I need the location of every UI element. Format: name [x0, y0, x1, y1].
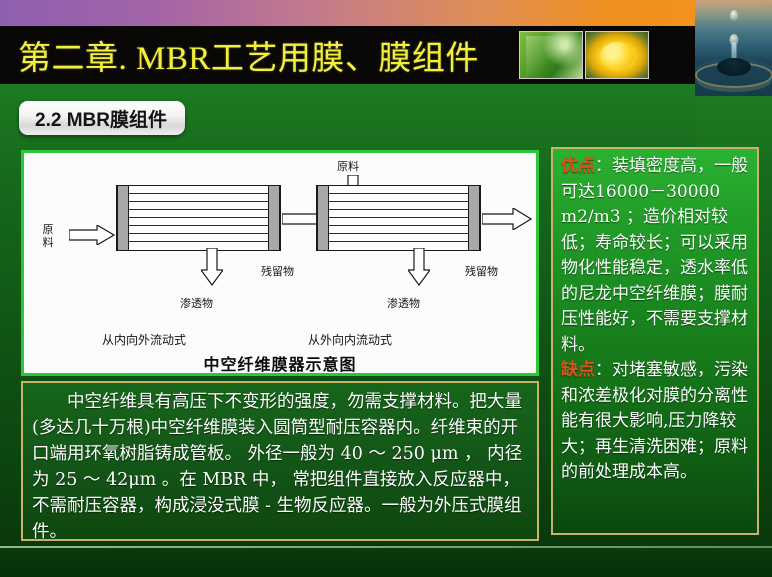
footer-area — [0, 548, 772, 577]
right-retentate-label: 残留物 — [465, 263, 498, 279]
pros-label: 优点 — [561, 156, 595, 176]
pros-paragraph: 优点：装填密度高，一般可达16000－30000 m2/m3 ；造价相对较低；寿… — [561, 154, 751, 358]
left-module-end-cap-left — [117, 186, 129, 250]
cons-label: 缺点 — [561, 360, 595, 380]
left-feed-label: 原料 — [42, 223, 54, 249]
description-box: 中空纤维具有高压下不变形的强度，勿需支撑材料。把大量(多达几十万根)中空纤维膜装… — [21, 381, 539, 541]
right-feed-label: 原料 — [337, 158, 359, 174]
section-heading-label: 2.2 MBR膜组件 — [35, 105, 167, 132]
description-paragraph: 中空纤维具有高压下不变形的强度，勿需支撑材料。把大量(多达几十万根)中空纤维膜装… — [32, 389, 528, 545]
pros-text: ：装填密度高，一般可达16000－30000 m2/m3 ；造价相对较低；寿命较… — [561, 156, 748, 355]
section-heading-pill[interactable]: 2.2 MBR膜组件 — [19, 101, 185, 135]
hollow-fiber-diagram: 原料 残留物 渗透物 从内向外流动式 原料 — [21, 150, 539, 376]
droplet-core — [717, 58, 751, 76]
right-retentate-arrow-icon — [482, 208, 532, 230]
left-membrane-module — [116, 185, 281, 251]
right-permeate-label: 渗透物 — [387, 295, 420, 311]
slide-canvas: 第二章. MBR工艺用膜、膜组件 2.2 MBR膜组件 原料 残留物 — [0, 0, 772, 577]
left-flow-name: 从内向外流动式 — [102, 331, 186, 348]
right-membrane-module — [316, 185, 481, 251]
left-feed-arrow-icon — [69, 225, 115, 245]
diagram-caption: 中空纤维膜器示意图 — [24, 351, 536, 375]
left-permeate-arrow-icon — [201, 248, 223, 286]
right-module-end-cap-left — [317, 186, 329, 250]
header-gradient-band — [0, 0, 695, 26]
right-permeate-arrow-icon — [408, 248, 430, 286]
flower-thumbnail — [585, 31, 649, 79]
right-flow-name: 从外向内流动式 — [308, 331, 392, 348]
right-fiber-bundle — [329, 190, 468, 246]
leaf-thumbnail — [519, 31, 583, 79]
left-module-end-cap-right — [268, 186, 280, 250]
pros-cons-panel: 优点：装填密度高，一般可达16000－30000 m2/m3 ；造价相对较低；寿… — [551, 147, 759, 535]
left-fiber-bundle — [129, 190, 268, 246]
left-retentate-label: 残留物 — [261, 263, 294, 279]
right-module-end-cap-right — [468, 186, 480, 250]
left-permeate-label: 渗透物 — [180, 295, 213, 311]
water-droplet-photo — [695, 0, 772, 96]
cons-paragraph: 缺点：对堵塞敏感，污染和浓差极化对膜的分离性能有很大影响,压力降较大；再生清洗困… — [561, 358, 751, 486]
droplet-top-icon — [730, 10, 738, 21]
page-title: 第二章. MBR工艺用膜、膜组件 — [18, 30, 508, 80]
